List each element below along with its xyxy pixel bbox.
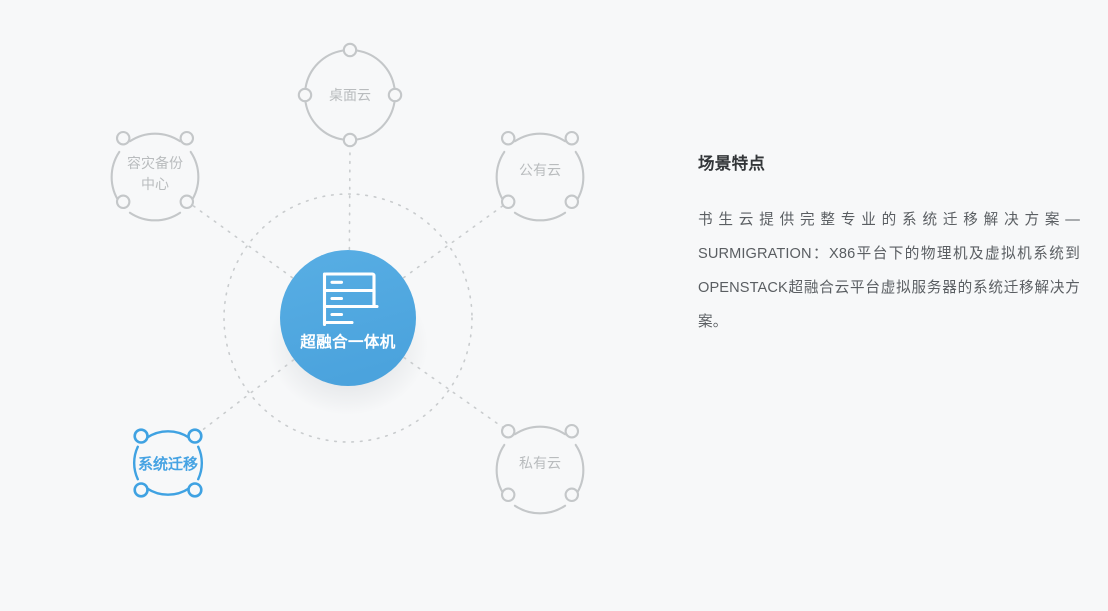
node-handle (566, 132, 578, 144)
topology-node-label: 私有云 (519, 455, 561, 471)
node-handle (135, 430, 148, 443)
node-ring-arc (198, 447, 202, 479)
node-handle (502, 489, 514, 501)
scene-features-panel: 场景特点 书生云提供完整专业的系统迁移解决方案—SURMIGRATION：X86… (698, 155, 1080, 339)
node-handle (502, 196, 514, 208)
panel-heading: 场景特点 (698, 155, 1080, 175)
node-handle (502, 132, 514, 144)
node-handle (189, 484, 202, 497)
hub-circle (280, 250, 416, 386)
topology-hub-node[interactable]: 超融合一体机 (280, 250, 416, 386)
node-handle (566, 196, 578, 208)
node-handle (135, 484, 148, 497)
node-ring-arc (306, 51, 343, 88)
hub-label: 超融合一体机 (299, 332, 396, 351)
node-handle (117, 132, 129, 144)
node-ring-arc (147, 431, 189, 437)
node-ring-arc (112, 152, 120, 202)
node-handle (299, 89, 311, 101)
node-handle (389, 89, 401, 101)
node-handle (344, 44, 356, 56)
solution-topology-diagram: 桌面云 容灾备份 中心 (0, 0, 660, 611)
node-handle (117, 196, 129, 208)
topology-node-label: 容灾备份 (127, 155, 183, 171)
node-ring-arc (515, 134, 565, 142)
node-ring-arc (515, 506, 565, 514)
node-ring-arc (358, 51, 395, 88)
node-handle (566, 489, 578, 501)
node-handle (181, 196, 193, 208)
topology-node-label: 系统迁移 (138, 455, 198, 473)
topology-node-label: 桌面云 (329, 87, 371, 103)
panel-body-text: 书生云提供完整专业的系统迁移解决方案—SURMIGRATION：X86平台下的物… (698, 203, 1080, 339)
node-handle (189, 430, 202, 443)
node-handle (181, 132, 193, 144)
node-ring-arc (306, 103, 343, 140)
node-ring-arc (358, 103, 395, 140)
topology-node-dr-backup[interactable]: 容灾备份 中心 (112, 132, 199, 220)
page-root: 桌面云 容灾备份 中心 (0, 0, 1108, 611)
topology-node-desktop-cloud[interactable]: 桌面云 (299, 44, 401, 146)
topology-node-private-cloud[interactable]: 私有云 (497, 425, 584, 513)
node-ring-arc (147, 488, 189, 494)
topology-node-label-line2: 中心 (141, 176, 169, 192)
topology-svg: 桌面云 容灾备份 中心 (0, 0, 660, 611)
node-ring-arc (130, 134, 180, 142)
node-handle (344, 134, 356, 146)
node-ring-arc (515, 427, 565, 435)
node-ring-arc (515, 213, 565, 221)
node-handle (502, 425, 514, 437)
node-ring-arc (191, 152, 199, 202)
node-handle (566, 425, 578, 437)
node-ring-arc (497, 152, 505, 202)
node-ring-arc (576, 445, 584, 495)
node-ring-arc (576, 152, 584, 202)
node-ring-arc (130, 213, 180, 221)
node-ring-arc (497, 445, 505, 495)
topology-node-public-cloud[interactable]: 公有云 (497, 132, 584, 220)
topology-node-system-migrate[interactable]: 系统迁移 (134, 430, 202, 497)
topology-node-label: 公有云 (519, 162, 561, 178)
